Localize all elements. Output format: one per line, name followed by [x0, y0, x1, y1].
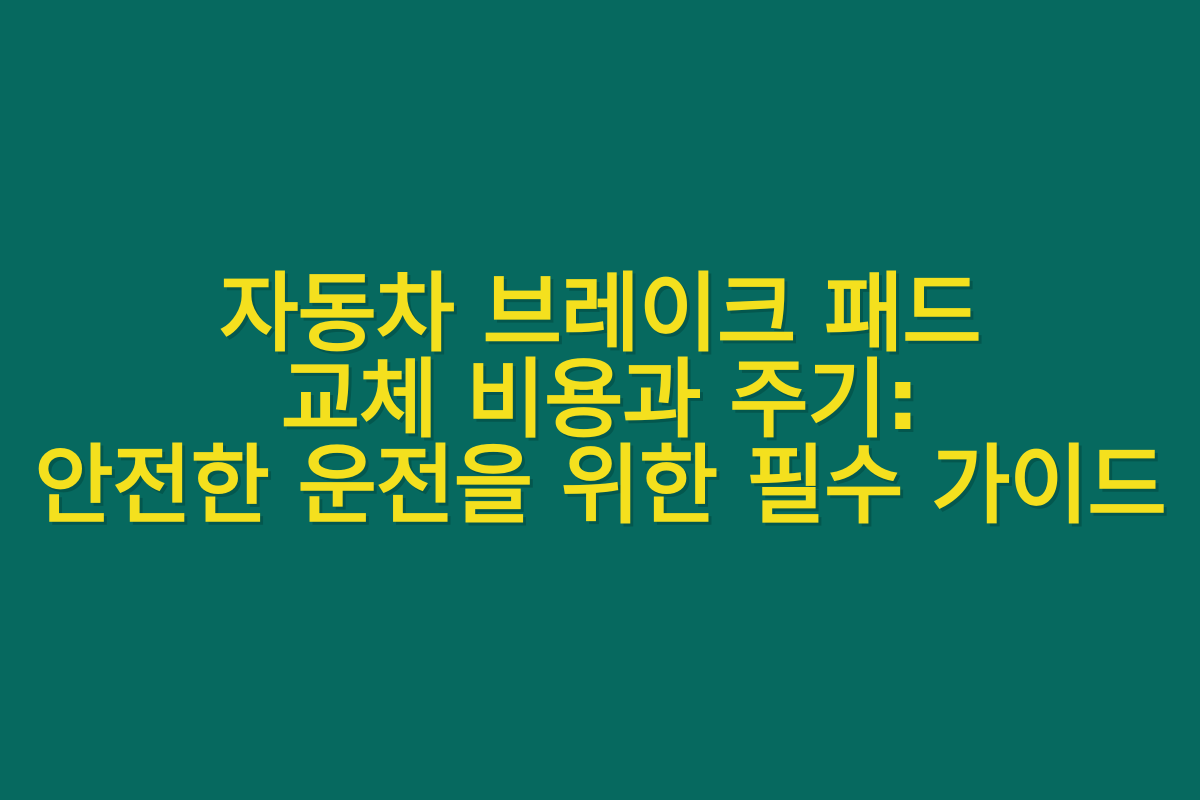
title-line-2: 교체 비용과 주기:	[34, 357, 1165, 443]
page-title: 자동차 브레이크 패드 교체 비용과 주기: 안전한 운전을 위한 필수 가이드	[26, 271, 1173, 529]
title-line-3: 안전한 운전을 위한 필수 가이드	[34, 443, 1165, 529]
title-card: 자동차 브레이크 패드 교체 비용과 주기: 안전한 운전을 위한 필수 가이드	[0, 0, 1200, 800]
title-line-1: 자동차 브레이크 패드	[34, 271, 1165, 357]
